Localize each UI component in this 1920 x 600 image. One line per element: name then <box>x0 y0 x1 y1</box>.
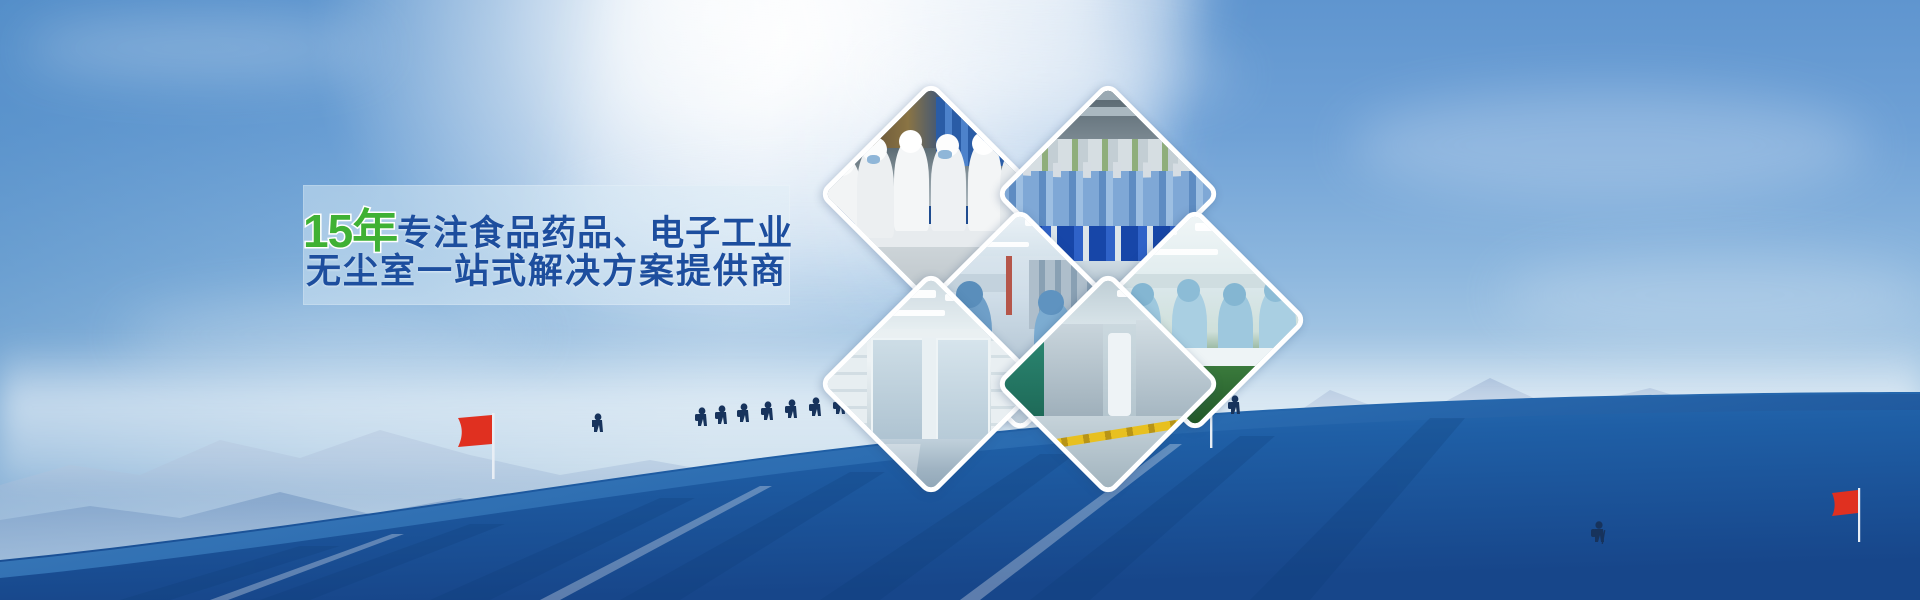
red-summit-flag <box>1830 488 1884 547</box>
hero-banner: 15年专注食品药品、电子工业 无尘室一站式解决方案提供商 <box>0 0 1920 600</box>
climber-solo <box>1588 520 1614 554</box>
cloud-wisp <box>1350 90 1870 200</box>
headline-panel: 15年专注食品药品、电子工业 无尘室一站式解决方案提供商 <box>303 185 790 305</box>
cleanroom-photo-collage <box>845 92 1270 460</box>
headline-line-2-text: 无尘室一站式解决方案提供商 <box>306 252 787 291</box>
red-summit-flag <box>456 413 526 484</box>
cloud-wisp <box>20 18 380 78</box>
headline-line-2: 无尘室一站式解决方案提供商 <box>303 243 790 294</box>
